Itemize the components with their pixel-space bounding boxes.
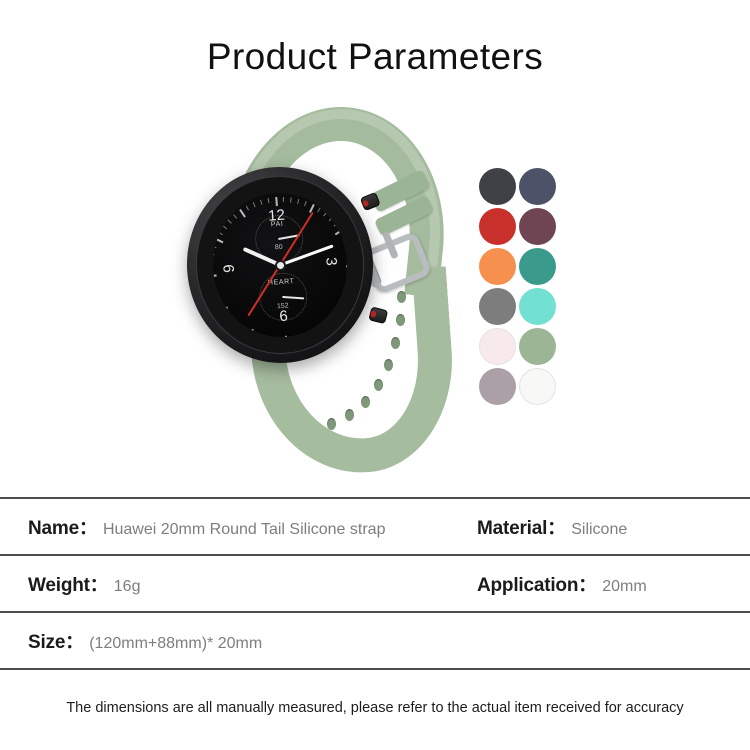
page-title: Product Parameters <box>0 36 750 78</box>
spec-cell-material: Material ： Silicone <box>477 514 627 540</box>
spec-separator: ： <box>79 514 103 540</box>
subdial-label-pai: PAI <box>271 221 284 229</box>
spec-label-application: Application <box>477 575 578 597</box>
spec-value-material: Silicone <box>571 521 627 539</box>
watch-numeral-3: 3 <box>322 257 340 267</box>
subdial-value-heart: 152 <box>277 302 289 310</box>
color-swatch-off-white[interactable] <box>519 368 556 405</box>
color-swatch-grid[interactable] <box>479 168 559 408</box>
watch-numeral-9: 9 <box>221 264 239 274</box>
spec-cell-size: Size ： (120mm+88mm)* 20mm <box>28 628 262 654</box>
spec-label-name: Name <box>28 518 79 540</box>
color-swatch-pale-pink[interactable] <box>479 328 516 365</box>
spec-cell-application: Application ： 20mm <box>477 571 647 597</box>
color-swatch-mint[interactable] <box>519 288 556 325</box>
watch-face: 12 3 6 9 PAI 80 HEART 152 <box>208 189 352 342</box>
strap-hole <box>396 314 405 326</box>
table-row: Weight ： 16g Application ： 20mm <box>0 556 750 613</box>
spec-value-weight: 16g <box>114 578 141 596</box>
strap-hole <box>384 359 393 371</box>
table-row: Size ： (120mm+88mm)* 20mm <box>0 613 750 670</box>
strap-hole <box>391 337 400 349</box>
strap-hole <box>374 379 383 391</box>
strap-hole <box>345 409 354 421</box>
color-swatch-charcoal[interactable] <box>479 168 516 205</box>
watch-hand-hub <box>276 261 283 268</box>
color-swatch-mauve-gray[interactable] <box>479 368 516 405</box>
spec-value-application: 20mm <box>602 578 646 596</box>
spec-table: Name ： Huawei 20mm Round Tail Silicone s… <box>0 497 750 670</box>
spec-cell-name: Name ： Huawei 20mm Round Tail Silicone s… <box>28 514 385 540</box>
spec-cell-weight: Weight ： 16g <box>28 571 140 597</box>
spec-label-size: Size <box>28 632 65 654</box>
spec-separator: ： <box>578 571 602 597</box>
color-swatch-red[interactable] <box>479 208 516 245</box>
spec-label-weight: Weight <box>28 575 90 597</box>
color-swatch-teal[interactable] <box>519 248 556 285</box>
subdial-value-pai: 80 <box>275 244 283 252</box>
product-image: 12 3 6 9 PAI 80 HEART 152 <box>0 100 750 490</box>
color-swatch-orange[interactable] <box>479 248 516 285</box>
spec-separator: ： <box>547 514 571 540</box>
watch-illustration: 12 3 6 9 PAI 80 HEART 152 <box>175 105 475 475</box>
table-row: Name ： Huawei 20mm Round Tail Silicone s… <box>0 499 750 556</box>
spec-value-name: Huawei 20mm Round Tail Silicone strap <box>103 521 386 539</box>
color-swatch-sage-green[interactable] <box>519 328 556 365</box>
spec-value-size: (120mm+88mm)* 20mm <box>89 635 262 653</box>
strap-hole <box>397 291 406 303</box>
watch-bezel: 12 3 6 9 PAI 80 HEART 152 <box>190 170 370 359</box>
color-swatch-slate-blue[interactable] <box>519 168 556 205</box>
spec-separator: ： <box>65 628 89 654</box>
strap-hole <box>327 418 336 430</box>
color-swatch-plum[interactable] <box>519 208 556 245</box>
color-swatch-gray[interactable] <box>479 288 516 325</box>
measurement-disclaimer: The dimensions are all manually measured… <box>0 700 750 716</box>
spec-separator: ： <box>90 571 114 597</box>
strap-hole <box>361 396 370 408</box>
spec-label-material: Material <box>477 518 547 540</box>
